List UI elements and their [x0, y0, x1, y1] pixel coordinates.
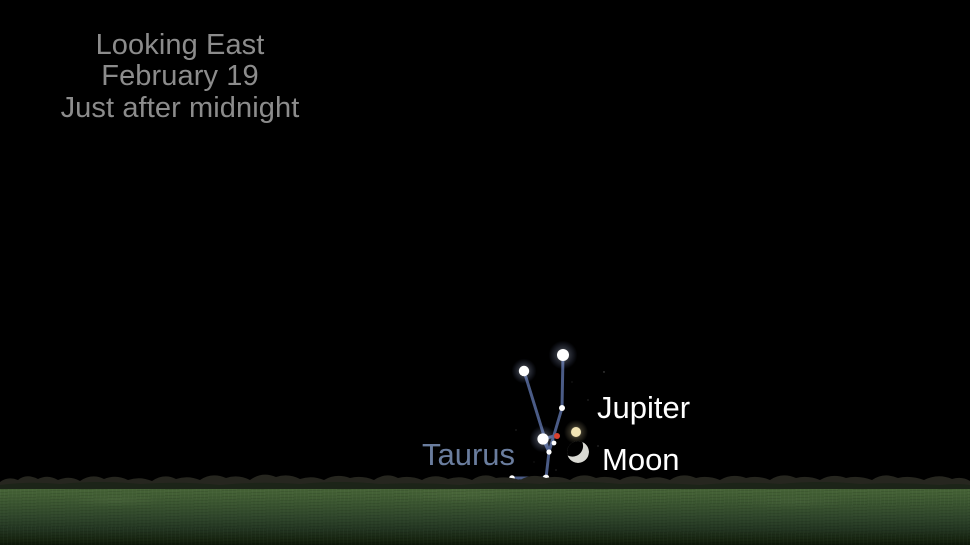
caption-line-time: Just after midnight: [0, 93, 360, 124]
jupiter-marker: [564, 420, 588, 444]
grass-field: [0, 483, 970, 545]
grass-texture: [0, 483, 970, 545]
label-taurus-constellation: Taurus: [422, 437, 515, 473]
caption-line-direction: Looking East: [0, 30, 360, 61]
sky-chart-view: Looking East February 19 Just after midn…: [0, 0, 970, 545]
star-marker: [519, 366, 529, 376]
star-marker: [552, 441, 557, 446]
star-marker: [557, 349, 569, 361]
caption-block: Looking East February 19 Just after midn…: [0, 30, 360, 124]
label-jupiter: Jupiter: [597, 390, 690, 426]
star-marker: [559, 405, 565, 411]
caption-line-date: February 19: [0, 61, 360, 92]
star-marker: [537, 433, 548, 444]
star-marker: [554, 433, 560, 439]
label-moon: Moon: [602, 442, 680, 478]
star-marker: [546, 449, 551, 454]
